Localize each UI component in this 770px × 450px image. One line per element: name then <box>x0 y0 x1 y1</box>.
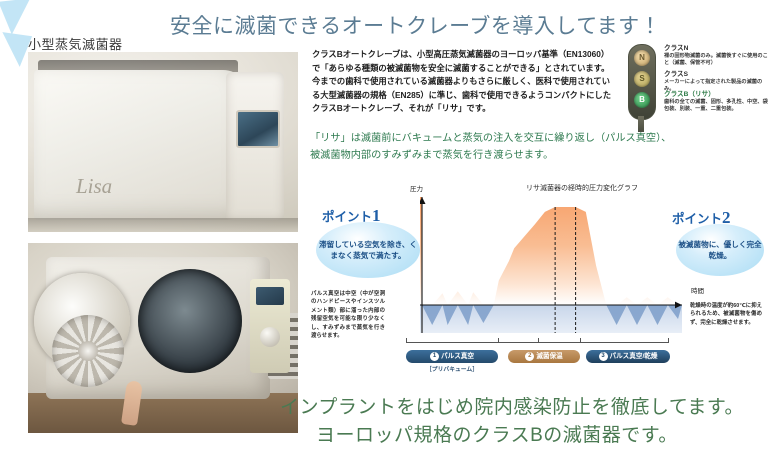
lisa-line-2: 被滅菌物内部のすみずみまで蒸気を行き渡らせます。 <box>310 147 722 164</box>
class-n-heading: クラスN <box>664 44 768 53</box>
point2-bubble-tail <box>0 32 32 68</box>
chart-phase-legend: 1パルス真空 ［プリバキューム］ 2滅菌保温 3パルス真空/乾燥 <box>400 340 672 376</box>
chart-annotation-left: パルス真空は中空（中が空洞のハンドピースやインスツルメント類）部に溜った内部の残… <box>311 290 385 340</box>
autoclave-closed-photo: Lisa <box>28 52 298 232</box>
chart-title: リサ滅菌器の経時的圧力変化グラフ <box>526 183 638 193</box>
phase-2-label: 滅菌保温 <box>536 353 562 360</box>
point1-bubble-tail <box>0 0 34 36</box>
phase-2-chip: 2滅菌保温 <box>508 350 580 363</box>
classb-description: クラスBオートクレーブは、小型高圧蒸気滅菌器のヨーロッパ基準（EN13060） … <box>312 48 612 116</box>
lisa-description: 「リサ」は滅菌前にバキュームと蒸気の注入を交互に繰り返し（パルス真空）、 被滅菌… <box>310 130 722 164</box>
class-b-row: クラスB（リサ） 歯科の全ての滅菌、固形、多孔性、中空、袋包装、別装、一重、二重… <box>664 90 768 113</box>
classb-line-4: る大型滅菌器の規格（EN285）に準じ、歯科で使用できるようコンパクトにした <box>312 89 612 103</box>
phase-3-label: パルス真空/乾燥 <box>610 353 658 360</box>
sterilization-chamber <box>138 269 242 373</box>
phase-1-label: パルス真空 <box>441 353 474 360</box>
chart-curve-svg <box>420 197 682 333</box>
classb-line-5: クラスBオートクレーブ、それが「リサ」です。 <box>312 102 612 116</box>
class-n-row: クラスN 裸の固形物滅菌のみ。滅菌後すぐに使用のこと（滅菌、保管不可） <box>664 44 768 67</box>
pressure-chart: リサ滅菌器の経時的圧力変化グラフ 圧力 時間 <box>398 185 688 320</box>
class-b-description: 歯科の全ての滅菌、固形、多孔性、中空、袋包装、別装、一重、二重包装。 <box>664 99 768 113</box>
autoclave-open-photo <box>28 243 298 433</box>
legend-tick <box>498 338 499 343</box>
class-n-description: 裸の固形物滅菌のみ。滅菌後すぐに使用のこと（滅菌、保管不可） <box>664 53 768 67</box>
phase-3-chip: 3パルス真空/乾燥 <box>586 350 670 363</box>
classb-line-1: クラスBオートクレーブは、小型高圧蒸気滅菌器のヨーロッパ基準（EN13060） <box>312 48 612 62</box>
chart-y-axis-label: 圧力 <box>410 183 423 193</box>
autoclave-display-screen <box>236 110 280 148</box>
phase-1-number: 1 <box>430 352 439 361</box>
class-s-heading: クラスS <box>664 70 768 79</box>
page-title: 安全に滅菌できるオートクレーブを導入してます！ <box>170 10 640 40</box>
chart-annotation-right: 乾燥時の温度が約60℃に抑えられるため、被滅菌物を傷めず、完全に乾燥させます。 <box>690 302 762 327</box>
legend-axis-line <box>406 342 668 343</box>
legend-tick <box>668 338 669 343</box>
table-surface <box>28 393 298 433</box>
point2-bubble: 被滅菌物に、優しく完全乾燥。 <box>676 224 764 276</box>
classb-line-2: で「あらゆる種類の被滅菌物を安全に滅菌することができる」とされています。 <box>312 62 612 76</box>
legend-tick <box>580 338 581 343</box>
lisa-line-1: 「リサ」は滅菌前にバキュームと蒸気の注入を交互に繰り返し（パルス真空）、 <box>310 130 722 147</box>
door-fan-hub <box>78 341 98 361</box>
photo-shadow <box>28 218 298 232</box>
footer-line-2: ヨーロッパ規格のクラスBの滅菌器です。 <box>316 420 678 447</box>
control-panel-screen <box>256 287 284 305</box>
class-n-lamp-icon: N <box>634 50 650 66</box>
autoclave-brand-label: Lisa <box>76 174 146 200</box>
phase-1-chip: 1パルス真空 <box>406 350 498 363</box>
autoclave-open-door <box>34 273 130 369</box>
class-comparison-chart: N S B クラスN 裸の固形物滅菌のみ。滅菌後すぐに使用のこと（滅菌、保管不可… <box>620 42 768 134</box>
chart-plot-area <box>420 197 682 317</box>
legend-tick <box>406 338 407 343</box>
photo-caption: 小型蒸気滅菌器 <box>28 34 123 53</box>
control-knob <box>260 327 280 347</box>
class-b-heading: クラスB（リサ） <box>664 90 768 99</box>
phase-3-number: 3 <box>599 352 608 361</box>
phase-1-sublabel: ［プリバキューム］ <box>406 364 498 373</box>
chart-x-axis-label: 時間 <box>691 285 704 295</box>
class-s-lamp-icon: S <box>634 71 650 87</box>
legend-tick <box>538 338 539 343</box>
classb-line-3: 今までの歯科で使用されている滅菌器よりもさらに厳しく、医科で使用されてい <box>312 75 612 89</box>
class-b-lamp-icon: B <box>634 92 650 108</box>
footer-line-1: インプラントをはじめ院内感染防止を徹底してます。 <box>280 392 744 419</box>
point1-bubble: 滞留している空気を除き、くまなく蒸気で満たす。 <box>316 222 420 278</box>
phase-2-number: 2 <box>525 352 534 361</box>
